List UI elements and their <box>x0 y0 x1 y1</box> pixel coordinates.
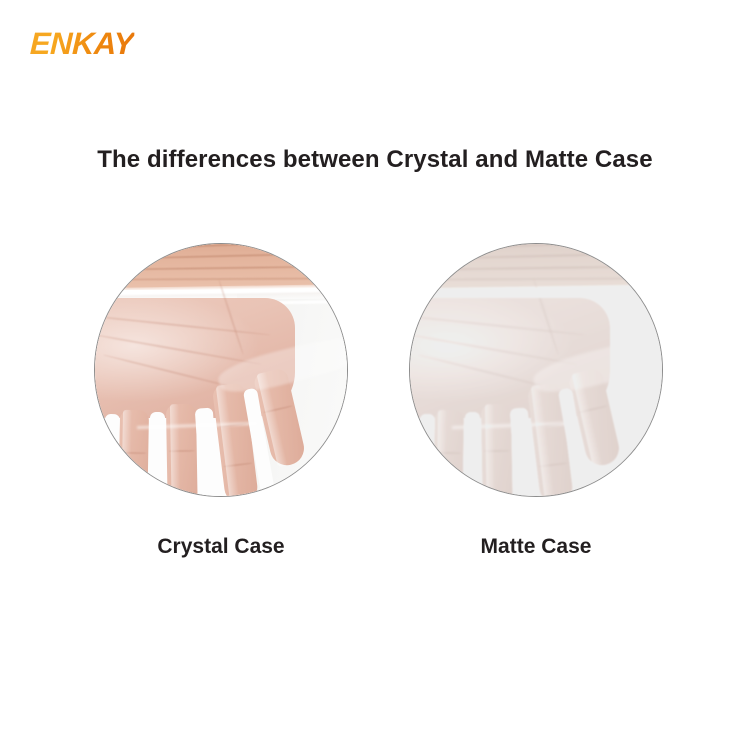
wrist-area <box>94 243 348 290</box>
hand-through-matte-case-scene <box>409 243 663 497</box>
finger <box>481 404 513 497</box>
enkay-logo: ENKAY <box>29 28 134 59</box>
finger <box>118 410 149 497</box>
comparison-item-crystal: Crystal Case <box>94 243 348 497</box>
crystal-case-photo <box>94 243 348 497</box>
finger <box>433 410 464 497</box>
comparison-item-matte: Matte Case <box>409 243 663 497</box>
matte-case-photo <box>409 243 663 497</box>
page-title: The differences between Crystal and Matt… <box>0 146 750 174</box>
wrist-area <box>409 243 663 290</box>
hand-through-crystal-case-scene <box>94 243 348 497</box>
matte-case-caption: Matte Case <box>409 535 663 559</box>
finger <box>166 404 198 497</box>
crystal-case-caption: Crystal Case <box>94 535 348 559</box>
case-comparison: Crystal Case <box>0 243 750 573</box>
